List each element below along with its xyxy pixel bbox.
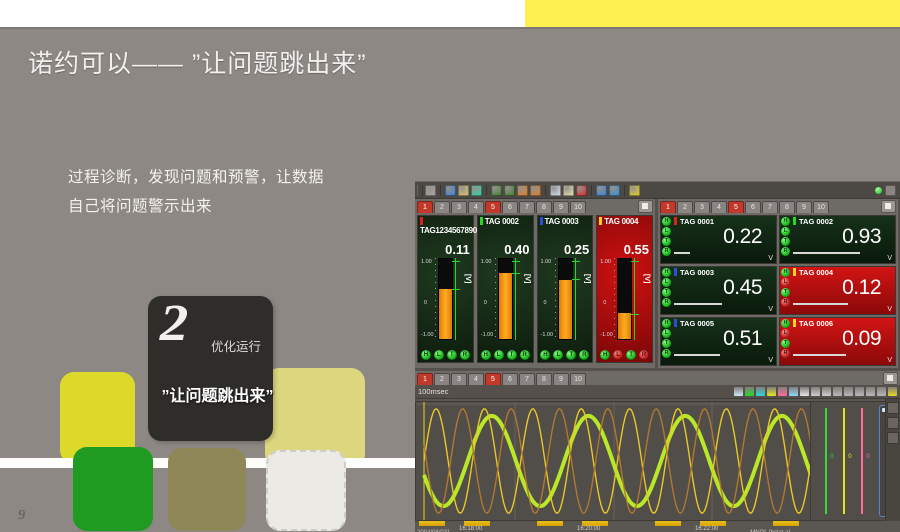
tab-1[interactable]: 1 <box>417 373 433 385</box>
meter-lamp-r[interactable]: R <box>662 349 671 358</box>
gauge-lamp-row: HLTR <box>478 350 533 360</box>
delete-icon[interactable] <box>576 185 587 196</box>
meter-lamp-column: HLTR <box>781 268 790 307</box>
sample-rate-label: 100msec <box>418 387 448 396</box>
tab-5[interactable]: 5 <box>485 373 501 385</box>
tile-4-icon[interactable] <box>866 387 875 396</box>
meter-mini-bar <box>793 303 848 305</box>
meter-color-chip <box>793 268 796 276</box>
time-marker-extra-3 <box>773 521 799 526</box>
gauge-lamp-h[interactable]: H <box>600 350 610 360</box>
meter-unit: V <box>887 255 892 262</box>
cursor-icon[interactable] <box>745 387 754 396</box>
gauge-value: 0.55 <box>624 242 649 257</box>
meter-lamp-h[interactable]: H <box>662 268 671 277</box>
digital-meter[interactable]: HLTRTAG 00060.09V <box>779 317 896 366</box>
tab-9[interactable]: 9 <box>553 201 569 213</box>
meter-lamp-l[interactable]: L <box>781 278 790 287</box>
meter-value: 0.09 <box>842 327 881 351</box>
gauge-scale-mid: 0 <box>544 300 547 306</box>
meter-lamp-h[interactable]: H <box>662 217 671 226</box>
scale-bar-1[interactable] <box>825 408 827 514</box>
bar-gauge[interactable]: TAG 00030.251.000-1.00[V]HLTR <box>537 215 594 363</box>
meter-lamp-t[interactable]: T <box>781 237 790 246</box>
save-as-icon[interactable] <box>504 185 515 196</box>
tabstrip-menu-button[interactable] <box>881 200 896 213</box>
gauge-lamp-l[interactable]: L <box>494 350 504 360</box>
gauge-setpoint-needle[interactable] <box>572 258 580 340</box>
meter-unit: V <box>887 357 892 364</box>
meter-tag-name: TAG 0005 <box>674 319 714 328</box>
tab-2[interactable]: 2 <box>677 201 693 213</box>
gauge-scale-max: 1.00 <box>481 259 492 265</box>
meter-lamp-h[interactable]: H <box>662 319 671 328</box>
meter-color-chip <box>674 319 677 327</box>
highlight-card: 2 优化运行 <box>148 296 273 441</box>
meter-lamp-r[interactable]: R <box>781 247 790 256</box>
bar-gauge[interactable]: TAG12345678900.111.000-1.00[V]HLTR <box>417 215 474 363</box>
digital-meter[interactable]: HLTRTAG 00020.93V <box>779 215 896 264</box>
meter-lamp-l[interactable]: L <box>781 227 790 236</box>
tabstrip-menu-button[interactable] <box>883 372 898 385</box>
gauge-tick-marks <box>613 258 616 340</box>
gauge-fill <box>499 273 512 339</box>
meter-unit: V <box>768 255 773 262</box>
meter-tag-name: TAG 0006 <box>793 319 833 328</box>
tab-6[interactable]: 6 <box>502 373 518 385</box>
meter-lamp-r[interactable]: R <box>781 349 790 358</box>
copy-icon[interactable] <box>563 185 574 196</box>
gauge-setpoint-needle[interactable] <box>631 258 639 340</box>
monitoring-application-window: 12345678910 TAG12345678900.111.000-1.00[… <box>415 181 900 532</box>
tile-2-icon[interactable] <box>844 387 853 396</box>
gear-icon[interactable] <box>885 185 896 196</box>
tab-6[interactable]: 6 <box>502 201 518 213</box>
meter-lamp-column: HLTR <box>781 319 790 358</box>
meter-unit: V <box>768 357 773 364</box>
tab-9[interactable]: 9 <box>553 373 569 385</box>
meter-lamp-r[interactable]: R <box>662 247 671 256</box>
bars-icon[interactable] <box>767 387 776 396</box>
alarm-icon[interactable] <box>888 387 897 396</box>
meter-list: HLTRTAG 00010.22VHLTRTAG 00020.93VHLTRTA… <box>658 213 898 368</box>
help-icon[interactable] <box>629 185 640 196</box>
gauge-tag-name: TAG1234567890 <box>420 217 473 235</box>
gauge-value: 0.40 <box>504 242 529 257</box>
meter-tag-name: TAG 0004 <box>793 268 833 277</box>
refresh-icon[interactable] <box>471 185 482 196</box>
time-axis-label-2: 16:20:00 <box>577 526 600 532</box>
right-dock-toolbar <box>885 399 900 521</box>
gauge-color-chip <box>540 217 543 225</box>
tab-3[interactable]: 3 <box>451 201 467 213</box>
tab-4[interactable]: 4 <box>468 373 484 385</box>
toolbar-separator <box>624 185 625 196</box>
tab-3[interactable]: 3 <box>451 373 467 385</box>
open-folder-icon[interactable] <box>458 185 469 196</box>
gauge-value: 0.25 <box>564 242 589 257</box>
decor-square-white <box>266 450 346 531</box>
gauge-unit: [V] <box>464 274 471 283</box>
card-quote: ”让问题跳出来” <box>145 382 290 406</box>
meter-lamp-column: HLTR <box>781 217 790 256</box>
top-yellow-accent-band <box>525 0 900 27</box>
slide-canvas: 诺约可以—— ”让问题跳出来” 过程诊断，发现问题和预警，让数据 自己将问题警示… <box>0 0 900 531</box>
export-icon[interactable] <box>517 185 528 196</box>
scale-zero-label-3: 0 <box>866 454 869 460</box>
link-icon[interactable] <box>609 185 620 196</box>
gauge-scale-min: -1.00 <box>421 332 434 338</box>
tile-5-icon[interactable] <box>877 387 886 396</box>
tab-1[interactable]: 1 <box>660 201 676 213</box>
gauge-scale-min: -1.00 <box>541 332 554 338</box>
status-indicator-lamp <box>875 187 882 194</box>
tabstrip-menu-button[interactable] <box>638 200 653 213</box>
trend-toolbar: 100msec <box>415 385 900 399</box>
toolbar-separator <box>545 185 546 196</box>
gauge-setpoint-low <box>452 289 460 290</box>
gauge-setpoint-low <box>512 273 520 274</box>
scale-zero-label-2: 0 <box>848 454 851 460</box>
gauge-unit: [V] <box>524 274 531 283</box>
gauge-fill <box>439 289 452 339</box>
meter-value: 0.51 <box>723 327 762 351</box>
gauge-scale-max: 1.00 <box>541 259 552 265</box>
tab-8[interactable]: 8 <box>536 201 552 213</box>
page-subtitle: 过程诊断，发现问题和预警，让数据 自己将问题警示出来 <box>68 163 324 221</box>
time-axis-label-3: 16:22:00 <box>695 526 718 532</box>
tab-7[interactable]: 7 <box>762 201 778 213</box>
tab-5[interactable]: 5 <box>728 201 744 213</box>
tab-10[interactable]: 10 <box>570 373 586 385</box>
decor-square-green <box>73 447 153 531</box>
toolbar-icon-group <box>425 185 640 196</box>
gauge-track <box>617 258 632 340</box>
meter-color-chip <box>674 268 677 276</box>
gauge-setpoint-high <box>631 261 639 262</box>
tab-5[interactable]: 5 <box>485 201 501 213</box>
meter-color-chip <box>793 319 796 327</box>
meter-value: 0.22 <box>723 225 762 249</box>
meter-lamp-h[interactable]: H <box>781 217 790 226</box>
digital-meter[interactable]: HLTRTAG 00030.45V <box>660 266 777 315</box>
gauge-lamp-t[interactable]: T <box>507 350 517 360</box>
gauge-lamp-r[interactable]: R <box>520 350 530 360</box>
gauge-unit: [V] <box>643 274 650 283</box>
toolbar-grip[interactable] <box>417 185 423 196</box>
scale-zero-label-1: 0 <box>830 454 833 460</box>
gauge-fill <box>559 280 572 339</box>
trend-panel-tabstrip: 12345678910 <box>415 371 900 385</box>
gauge-list: TAG12345678900.111.000-1.00[V]HLTRTAG 00… <box>415 213 655 365</box>
meter-mini-bar <box>674 303 722 305</box>
gauge-color-chip <box>599 217 602 225</box>
toolbar-status-group <box>875 185 896 196</box>
dock-button-3[interactable] <box>887 432 899 444</box>
meter-mini-bar <box>674 252 690 254</box>
dock-button-1[interactable] <box>887 402 899 414</box>
meter-lamp-l[interactable]: L <box>662 329 671 338</box>
tab-2[interactable]: 2 <box>434 373 450 385</box>
meter-lamp-r[interactable]: R <box>781 298 790 307</box>
gauge-scale-min: -1.00 <box>600 332 613 338</box>
gauge-scale-max: 1.00 <box>421 259 432 265</box>
meter-lamp-column: HLTR <box>662 319 671 358</box>
import-icon[interactable] <box>530 185 541 196</box>
tab-2[interactable]: 2 <box>434 201 450 213</box>
meter-lamp-r[interactable]: R <box>662 298 671 307</box>
gauge-lamp-h[interactable]: H <box>540 350 550 360</box>
gauge-value: 0.11 <box>445 242 470 257</box>
application-toolbar <box>415 182 900 199</box>
tab-4[interactable]: 4 <box>468 201 484 213</box>
gauge-setpoint-high <box>512 261 520 262</box>
gauge-lamp-r[interactable]: R <box>639 350 649 360</box>
waveform-chart[interactable] <box>415 401 810 521</box>
meter-lamp-column: HLTR <box>662 268 671 307</box>
time-marker-extra-0 <box>419 521 445 526</box>
meter-lamp-t[interactable]: T <box>781 339 790 348</box>
tab-6[interactable]: 6 <box>745 201 761 213</box>
gauge-lamp-h[interactable]: H <box>481 350 491 360</box>
gauge-lamp-row: HLTR <box>418 350 473 360</box>
meter-mini-bar <box>793 252 860 254</box>
gauge-scale-max: 1.00 <box>600 259 611 265</box>
scale-bar-3[interactable] <box>861 408 863 514</box>
time-axis-label-1: 16:18:00 <box>459 526 482 532</box>
scale-bar-2[interactable] <box>843 408 845 514</box>
save-icon[interactable] <box>491 185 502 196</box>
card-number: 2 <box>160 294 189 353</box>
digital-meter[interactable]: HLTRTAG 00010.22V <box>660 215 777 264</box>
gauge-scale-mid: 0 <box>603 300 606 306</box>
top-panel-row: 12345678910 TAG12345678900.111.000-1.00[… <box>415 199 900 368</box>
gauge-panel-tabstrip: 12345678910 <box>415 199 655 213</box>
meter-tag-name: TAG 0001 <box>674 217 714 226</box>
meter-lamp-t[interactable]: T <box>662 339 671 348</box>
gauge-lamp-l[interactable]: L <box>553 350 563 360</box>
bar-gauge-panel: 12345678910 TAG12345678900.111.000-1.00[… <box>415 199 655 368</box>
gauge-lamp-row: HLTR <box>597 350 652 360</box>
meter-mini-bar <box>674 354 720 356</box>
gauge-setpoint-low <box>631 314 639 315</box>
toolbar-separator <box>486 185 487 196</box>
meter-panel-tabstrip: 12345678910 <box>658 199 898 213</box>
gauge-tick-marks <box>494 258 497 340</box>
decor-square-olive <box>168 448 246 531</box>
meter-lamp-t[interactable]: T <box>662 237 671 246</box>
meter-unit: V <box>768 306 773 313</box>
trend-plot-area: 000 <box>415 399 900 521</box>
tab-4[interactable]: 4 <box>711 201 727 213</box>
gauge-scale-min: -1.00 <box>481 332 494 338</box>
gauge-fill <box>618 313 631 339</box>
tab-7[interactable]: 7 <box>519 373 535 385</box>
gauge-color-chip <box>420 217 423 225</box>
open-blue-icon[interactable] <box>445 185 456 196</box>
meter-lamp-column: HLTR <box>662 217 671 256</box>
meter-lamp-l[interactable]: L <box>781 329 790 338</box>
gauge-lamp-t[interactable]: T <box>447 350 457 360</box>
time-marker-extra-1 <box>537 521 563 526</box>
card-caption: 优化运行 <box>211 336 261 355</box>
tab-3[interactable]: 3 <box>694 201 710 213</box>
gauge-lamp-t[interactable]: T <box>566 350 576 360</box>
meter-color-chip <box>674 217 677 225</box>
gauge-unit: [V] <box>583 274 590 283</box>
gauge-setpoint-high <box>452 261 460 262</box>
page-title: 诺约可以—— ”让问题跳出来” <box>28 44 367 80</box>
gauge-track <box>558 258 573 340</box>
gauge-track <box>498 258 513 340</box>
marker-icon[interactable] <box>756 387 765 396</box>
gauge-lamp-r[interactable]: R <box>460 350 470 360</box>
meter-tag-name: TAG 0002 <box>793 217 833 226</box>
gauge-lamp-l[interactable]: L <box>613 350 623 360</box>
meter-lamp-l[interactable]: L <box>662 227 671 236</box>
toolbar-separator <box>591 185 592 196</box>
gauge-setpoint-high <box>572 261 580 262</box>
scale-icon[interactable] <box>800 387 809 396</box>
gauge-lamp-t[interactable]: T <box>626 350 636 360</box>
gauge-color-chip <box>480 217 483 225</box>
meter-color-chip <box>793 217 796 225</box>
dock-button-2[interactable] <box>887 417 899 429</box>
meter-lamp-t[interactable]: T <box>662 288 671 297</box>
tile-3-icon[interactable] <box>855 387 864 396</box>
gauge-setpoint-needle[interactable] <box>512 258 520 340</box>
grid-icon[interactable] <box>734 387 743 396</box>
top-divider-line <box>0 27 900 29</box>
meter-tag-name: TAG 0003 <box>674 268 714 277</box>
tile-1-icon[interactable] <box>833 387 842 396</box>
meter-value: 0.93 <box>842 225 881 249</box>
gauge-lamp-l[interactable]: L <box>434 350 444 360</box>
gauge-tag-name: TAG 0004 <box>599 217 652 226</box>
gauge-setpoint-low <box>572 279 580 280</box>
undo-icon[interactable] <box>596 185 607 196</box>
page-icon[interactable] <box>550 185 561 196</box>
gauge-lamp-row: HLTR <box>538 350 593 360</box>
gauge-scale-mid: 0 <box>424 300 427 306</box>
toolbar-separator <box>440 185 441 196</box>
digital-meter[interactable]: HLTRTAG 00040.12V <box>779 266 896 315</box>
waveform-series-svg <box>416 402 810 520</box>
gauge-tick-marks <box>554 258 557 340</box>
colors-icon[interactable] <box>778 387 787 396</box>
trend-panel: 12345678910 100msec 000 2004/08/031 MNOL… <box>415 371 900 532</box>
meter-lamp-h[interactable]: H <box>781 319 790 328</box>
dash-icon[interactable] <box>822 387 831 396</box>
tab-10[interactable]: 10 <box>813 201 829 213</box>
time-marker-extra-2 <box>655 521 681 526</box>
tab-1[interactable]: 1 <box>417 201 433 213</box>
gauge-tick-marks <box>434 258 437 340</box>
trend-time-axis: 2004/08/031 MNOL [hclat a] 16:18:0016:20… <box>415 521 900 532</box>
gauge-scale-mid: 0 <box>484 300 487 306</box>
line-icon[interactable] <box>811 387 820 396</box>
tab-9[interactable]: 9 <box>796 201 812 213</box>
meter-unit: V <box>887 306 892 313</box>
meter-lamp-h[interactable]: H <box>781 268 790 277</box>
meter-mini-bar <box>793 354 846 356</box>
digital-meter[interactable]: HLTRTAG 00050.51V <box>660 317 777 366</box>
slide-page-number: 9 <box>18 508 25 524</box>
gauge-tag-name: TAG 0002 <box>480 217 533 226</box>
meter-lamp-t[interactable]: T <box>781 288 790 297</box>
meter-value: 0.45 <box>723 276 762 300</box>
bar-gauge[interactable]: TAG 00020.401.000-1.00[V]HLTR <box>477 215 534 363</box>
tab-7[interactable]: 7 <box>519 201 535 213</box>
tab-8[interactable]: 8 <box>779 201 795 213</box>
gauge-setpoint-needle[interactable] <box>452 258 460 340</box>
gauge-lamp-r[interactable]: R <box>579 350 589 360</box>
bar-gauge[interactable]: TAG 00040.551.000-1.00[V]HLTR <box>596 215 653 363</box>
digital-meter-panel: 12345678910 HLTRTAG 00010.22VHLTRTAG 000… <box>658 199 898 368</box>
meter-lamp-l[interactable]: L <box>662 278 671 287</box>
trend-toolbar-icons <box>734 387 897 396</box>
legend-icon[interactable] <box>789 387 798 396</box>
tab-10[interactable]: 10 <box>570 201 586 213</box>
gauge-tag-name: TAG 0003 <box>540 217 593 226</box>
tab-8[interactable]: 8 <box>536 373 552 385</box>
meter-value: 0.12 <box>842 276 881 300</box>
gauge-lamp-h[interactable]: H <box>421 350 431 360</box>
window-icon[interactable] <box>425 185 436 196</box>
gauge-track <box>438 258 453 340</box>
